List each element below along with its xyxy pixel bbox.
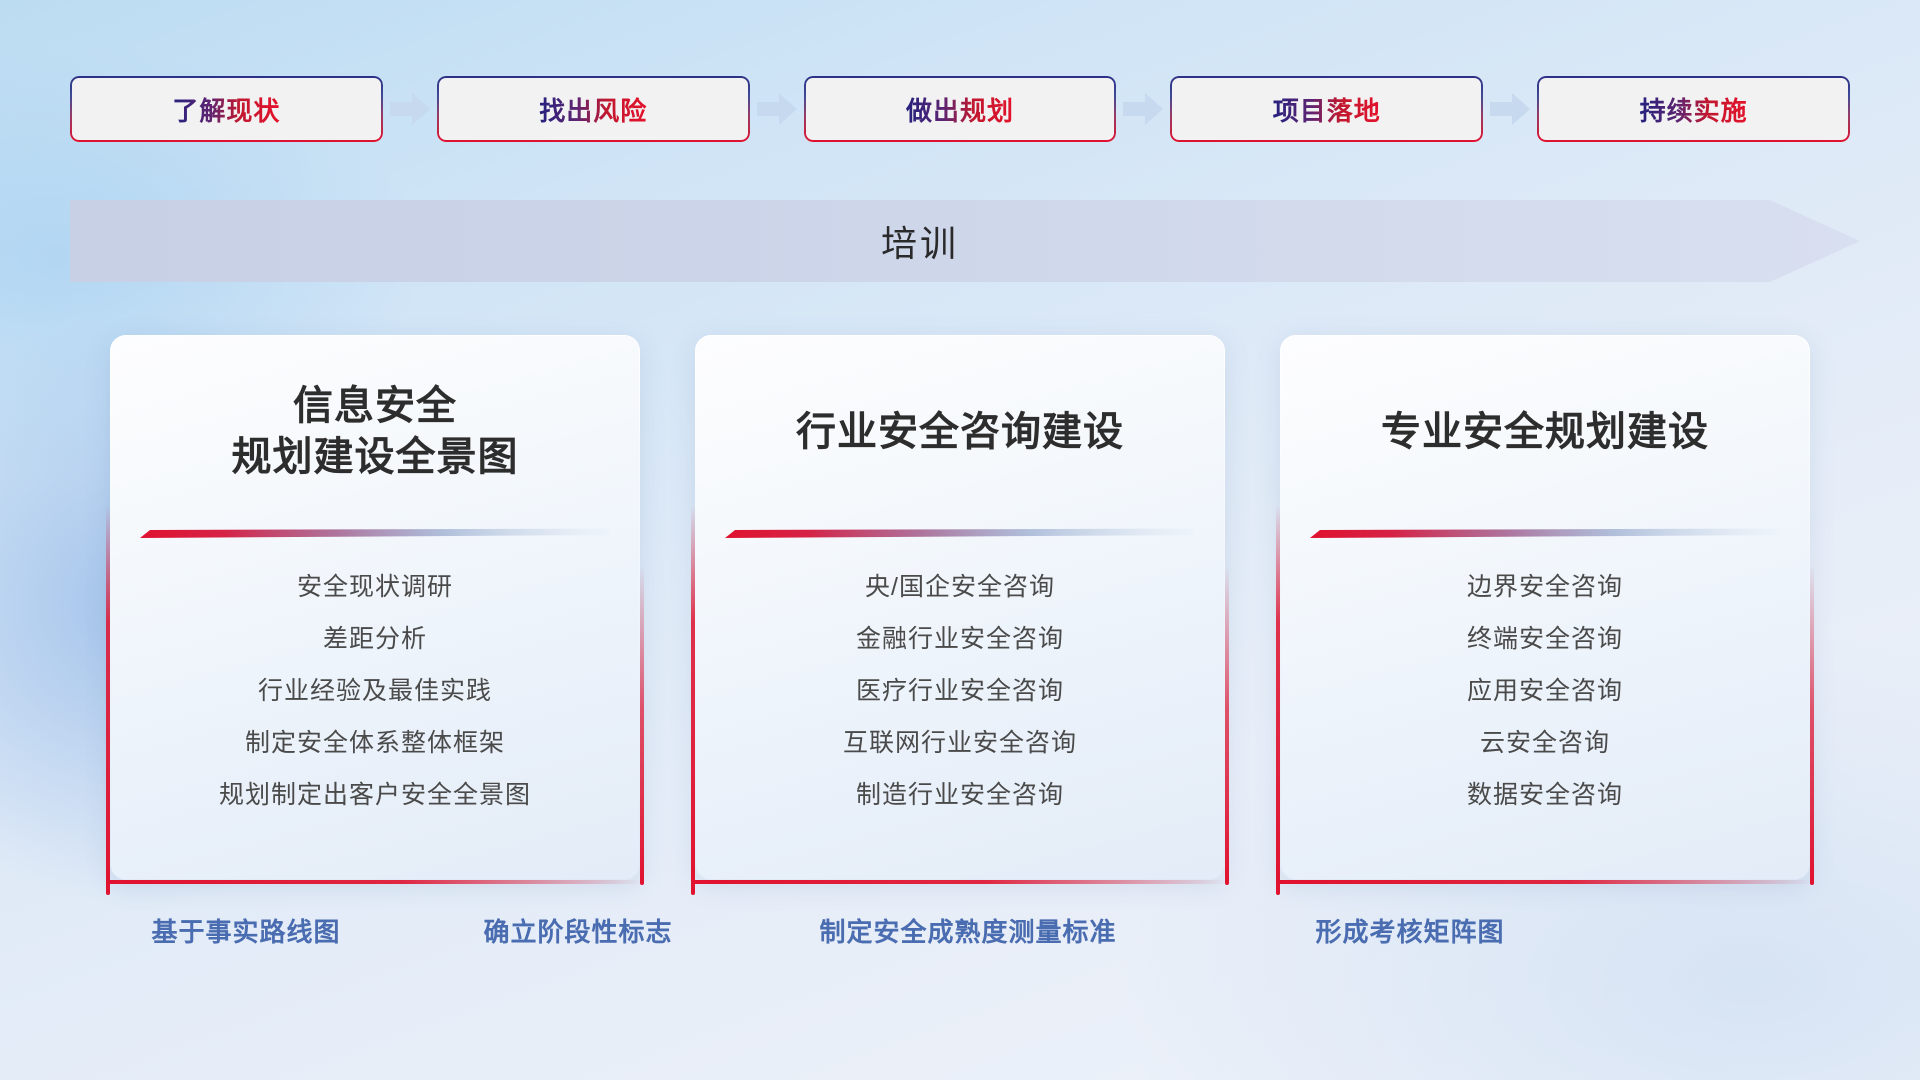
- list-item: 边界安全咨询: [1280, 575, 1810, 600]
- step-label: 了解现状: [172, 91, 280, 128]
- card-accent-bottom: [691, 880, 1229, 884]
- list-item: 差距分析: [110, 627, 640, 652]
- bottom-label-4: 形成考核矩阵图: [1315, 912, 1504, 949]
- card-item-list: 央/国企安全咨询金融行业安全咨询医疗行业安全咨询互联网行业安全咨询制造行业安全咨…: [695, 575, 1225, 835]
- step-box-3[interactable]: 做出规划: [804, 76, 1117, 142]
- list-item: 规划制定出客户安全全景图: [110, 783, 640, 808]
- list-item: 行业经验及最佳实践: [110, 679, 640, 704]
- card-divider: [1310, 527, 1780, 541]
- list-item: 医疗行业安全咨询: [695, 679, 1225, 704]
- bottom-labels-row: 基于事实路线图确立阶段性标志制定安全成熟度测量标准形成考核矩阵图: [0, 912, 1920, 952]
- arrow-right-icon: [750, 89, 804, 129]
- list-item: 央/国企安全咨询: [695, 575, 1225, 600]
- card-divider: [725, 527, 1195, 541]
- cards-row: 信息安全 规划建设全景图安全现状调研差距分析行业经验及最佳实践制定安全体系整体框…: [110, 335, 1810, 880]
- service-card-1[interactable]: 信息安全 规划建设全景图安全现状调研差距分析行业经验及最佳实践制定安全体系整体框…: [110, 335, 640, 880]
- list-item: 数据安全咨询: [1280, 783, 1810, 808]
- step-label: 项目落地: [1273, 91, 1381, 128]
- bottom-label-2: 确立阶段性标志: [483, 912, 672, 949]
- step-box-2[interactable]: 找出风险: [437, 76, 750, 142]
- service-card-3[interactable]: 专业安全规划建设边界安全咨询终端安全咨询应用安全咨询云安全咨询数据安全咨询: [1280, 335, 1810, 880]
- card-accent-right: [1810, 565, 1814, 885]
- bottom-label-1: 基于事实路线图: [151, 912, 340, 949]
- training-banner: 培训: [70, 200, 1860, 282]
- arrow-right-icon: [1116, 89, 1170, 129]
- card-accent-bottom: [106, 880, 644, 884]
- card-title: 信息安全 规划建设全景图: [110, 381, 640, 483]
- card-title: 行业安全咨询建设: [695, 407, 1225, 458]
- card-accent-right: [1225, 565, 1229, 885]
- list-item: 制定安全体系整体框架: [110, 731, 640, 756]
- list-item: 终端安全咨询: [1280, 627, 1810, 652]
- step-box-5[interactable]: 持续实施: [1537, 76, 1850, 142]
- process-step-row: 了解现状找出风险做出规划项目落地持续实施: [70, 76, 1850, 142]
- list-item: 互联网行业安全咨询: [695, 731, 1225, 756]
- step-label: 找出风险: [539, 91, 647, 128]
- card-item-list: 边界安全咨询终端安全咨询应用安全咨询云安全咨询数据安全咨询: [1280, 575, 1810, 835]
- list-item: 云安全咨询: [1280, 731, 1810, 756]
- slide-canvas: 了解现状找出风险做出规划项目落地持续实施 培训 信息安全 规划建设全景图安全现状…: [0, 0, 1920, 1080]
- card-item-list: 安全现状调研差距分析行业经验及最佳实践制定安全体系整体框架规划制定出客户安全全景…: [110, 575, 640, 835]
- banner-title: 培训: [70, 200, 1770, 282]
- service-card-2[interactable]: 行业安全咨询建设央/国企安全咨询金融行业安全咨询医疗行业安全咨询互联网行业安全咨…: [695, 335, 1225, 880]
- card-divider: [140, 527, 610, 541]
- arrow-right-icon: [1483, 89, 1537, 129]
- bottom-label-3: 制定安全成熟度测量标准: [819, 912, 1116, 949]
- arrow-right-icon: [383, 89, 437, 129]
- list-item: 安全现状调研: [110, 575, 640, 600]
- step-box-4[interactable]: 项目落地: [1170, 76, 1483, 142]
- card-accent-bottom: [1276, 880, 1814, 884]
- step-label: 持续实施: [1640, 91, 1748, 128]
- list-item: 应用安全咨询: [1280, 679, 1810, 704]
- card-accent-right: [640, 565, 644, 885]
- list-item: 制造行业安全咨询: [695, 783, 1225, 808]
- step-box-1[interactable]: 了解现状: [70, 76, 383, 142]
- step-label: 做出规划: [906, 91, 1014, 128]
- list-item: 金融行业安全咨询: [695, 627, 1225, 652]
- card-title: 专业安全规划建设: [1280, 407, 1810, 458]
